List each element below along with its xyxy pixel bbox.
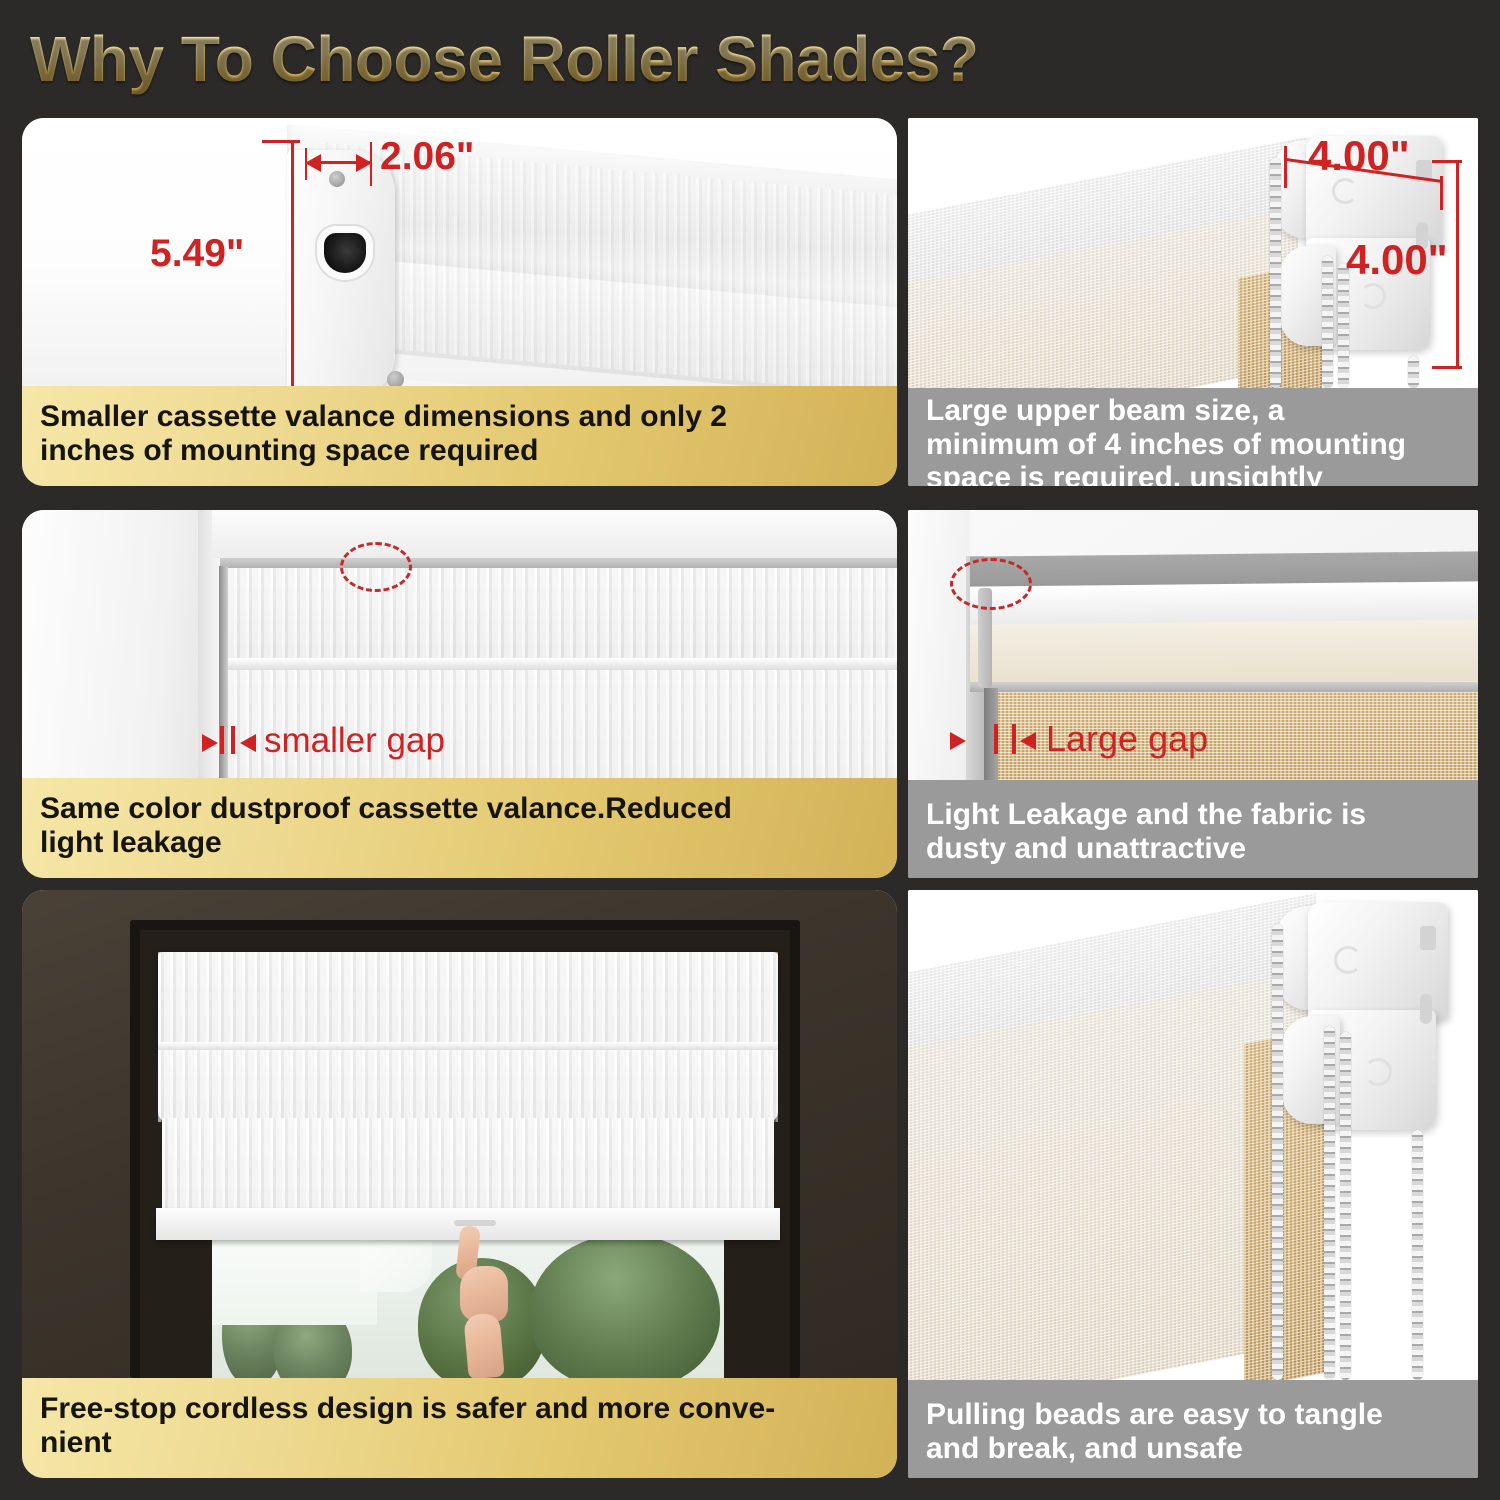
highlight-circle-icon — [950, 558, 1032, 610]
caption-line: dusty and unattractive — [926, 832, 1366, 866]
dim-arrow-left-icon — [305, 154, 321, 172]
dim-cap-bottom — [1432, 366, 1462, 369]
gap-tick — [220, 726, 224, 754]
panel-cordless-design: Free-stop cordless design is safer and m… — [22, 890, 897, 1478]
width-dimension-label: 4.00" — [1308, 132, 1410, 180]
dim-line-height — [1456, 160, 1459, 368]
panel-dustproof-cassette: smaller gap Same color dustproof cassett… — [22, 510, 897, 878]
dim-line-height — [291, 140, 294, 386]
beam-lower — [970, 619, 1478, 686]
gap-arrow-right-icon — [950, 732, 966, 750]
panel-6-photo — [908, 890, 1478, 1380]
bead-chain — [1270, 158, 1281, 388]
panel-large-upper-beam: 4.00" 4.00" Large upper beam size, a min… — [908, 118, 1478, 486]
bracket-logo-icon — [1332, 178, 1358, 204]
screw-icon — [387, 371, 404, 386]
cassette-valance — [158, 952, 778, 1048]
bead-chain — [1340, 1032, 1351, 1380]
caption-line: Light Leakage and the fabric is — [926, 798, 1366, 832]
bead-chain — [1324, 1026, 1335, 1380]
panel-1-caption: Smaller cassette valance dimensions and … — [22, 386, 897, 486]
beam-edge-line — [970, 682, 1478, 692]
gap-label: Large gap — [1046, 718, 1208, 760]
panel-5-photo — [22, 890, 897, 1378]
bead-chain — [1408, 356, 1419, 388]
bracket-slot-icon — [1420, 926, 1436, 950]
gap-tick — [994, 724, 998, 754]
bracket-slot-icon — [1420, 994, 1432, 1024]
panel-pulling-beads: Pulling beads are easy to tangle and bre… — [908, 890, 1478, 1478]
page-title: Why To Choose Roller Shades? — [30, 22, 978, 96]
panel-3-photo: smaller gap — [22, 510, 897, 780]
dim-cap-top — [1432, 160, 1462, 163]
dim-tick-left — [1284, 146, 1287, 188]
gap-label: smaller gap — [264, 721, 445, 761]
bottom-rail-grip — [454, 1220, 496, 1226]
bracket-logo-icon — [1364, 1058, 1392, 1086]
caption-line: Smaller cassette valance dimensions and … — [40, 400, 727, 434]
caption-line: light leakage — [40, 826, 732, 860]
title-bar: Why To Choose Roller Shades? — [0, 0, 1500, 110]
bead-chain — [1412, 1130, 1423, 1380]
caption-line: Large upper beam size, a — [926, 394, 1406, 428]
caption-line: inches of mounting space required — [40, 434, 727, 468]
fabric-texture — [222, 568, 897, 660]
panel-5-caption: Free-stop cordless design is safer and m… — [22, 1378, 897, 1478]
panel-4-photo: Large gap — [908, 510, 1478, 780]
width-dimension-label: 2.06" — [380, 135, 474, 179]
fabric-texture — [158, 1050, 778, 1122]
gap-arrow-left-icon — [240, 734, 256, 752]
caption-line: Pulling beads are easy to tangle — [926, 1398, 1383, 1432]
window-frame-left — [22, 510, 212, 780]
caption-line: nient — [40, 1426, 775, 1460]
panel-light-leakage: Large gap Light Leakage and the fabric i… — [908, 510, 1478, 878]
fabric-texture — [158, 952, 778, 1048]
bracket-logo-icon — [1360, 283, 1386, 309]
bead-chain — [1322, 256, 1333, 388]
gap-arrow-right-icon — [202, 734, 218, 752]
panel-3-caption: Same color dustproof cassette valance.Re… — [22, 778, 897, 878]
bracket-logo-icon — [1334, 946, 1362, 974]
caption-line: Free-stop cordless design is safer and m… — [40, 1392, 775, 1426]
cassette-opening — [324, 233, 366, 273]
panel-6-caption: Pulling beads are easy to tangle and bre… — [908, 1380, 1478, 1478]
gap-tick — [231, 726, 235, 754]
cassette-valance — [222, 568, 897, 660]
panel-1-photo: 2.06" 5.49" — [22, 118, 897, 386]
caption-line: and break, and unsafe — [926, 1432, 1383, 1466]
gap-tick — [1012, 724, 1016, 754]
height-dimension-label: 4.00" — [1346, 236, 1448, 284]
dim-cap-top — [262, 140, 300, 143]
panel-4-caption: Light Leakage and the fabric is dusty an… — [908, 780, 1478, 878]
panel-2-caption: Large upper beam size, a minimum of 4 in… — [908, 388, 1478, 486]
gap-arrow-left-icon — [1020, 732, 1036, 750]
panel-2-photo: 4.00" 4.00" — [908, 118, 1478, 388]
caption-line: minimum of 4 inches of mounting — [926, 428, 1406, 462]
panel-smaller-cassette: 2.06" 5.49" Smaller cassette valance dim… — [22, 118, 897, 486]
valance-roll — [158, 1050, 778, 1122]
window-frame-top — [212, 510, 897, 558]
highlight-circle-icon — [340, 542, 412, 592]
bead-chain — [1272, 924, 1283, 1380]
caption-line: Same color dustproof cassette valance.Re… — [40, 792, 732, 826]
tree — [530, 1234, 720, 1378]
wrist — [463, 1313, 504, 1378]
height-dimension-label: 5.49" — [150, 232, 244, 276]
caption-line: space is required, unsightly — [926, 461, 1406, 486]
dim-arrow-right-icon — [356, 154, 372, 172]
screw-icon — [329, 171, 345, 187]
